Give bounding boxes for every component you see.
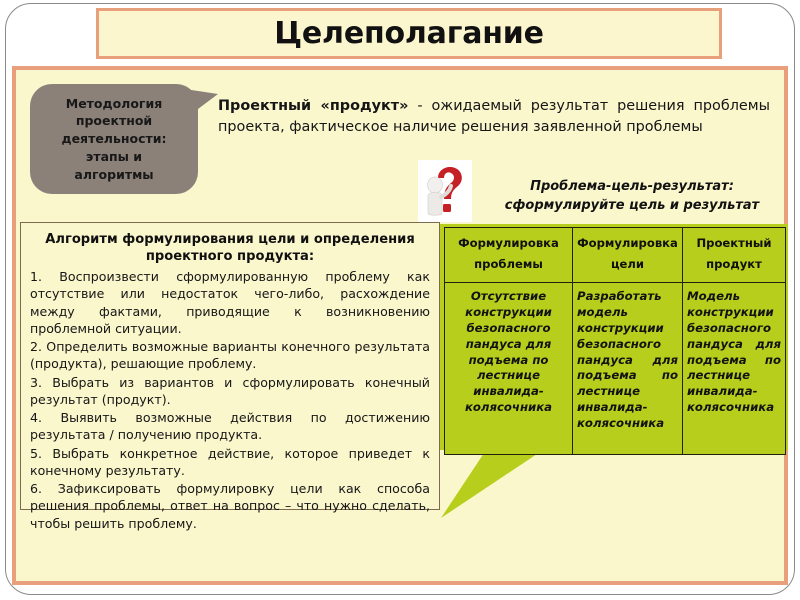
intro-lead: Проектный «продукт» (218, 98, 408, 114)
table-row: Отсутствие конструкции безопасного панду… (445, 282, 786, 454)
example-table: Формулировка проблемы Формулировка цели … (444, 227, 786, 455)
algorithm-box: Алгоритм формулирования цели и определен… (20, 222, 440, 510)
table-header-row: Формулировка проблемы Формулировка цели … (445, 228, 786, 283)
methodology-callout: Методология проектной деятельности: этап… (30, 84, 198, 194)
methodology-callout-label: Методология проектной деятельности: этап… (53, 95, 174, 184)
table-cell-product: Модель конструкции безопасного пандуса д… (683, 282, 786, 454)
algorithm-step: 1. Воспроизвести сформулированную пробле… (30, 268, 430, 337)
table-header-problem: Формулировка проблемы (445, 228, 573, 283)
algorithm-step: 6. Зафиксировать формулировку цели как с… (30, 480, 430, 532)
table-header-goal: Формулировка цели (573, 228, 683, 283)
problem-goal-result-caption: Проблема-цель-результат: сформулируйте ц… (476, 178, 788, 216)
caption-line-1: Проблема-цель-результат: (476, 178, 788, 197)
algorithm-step: 3. Выбрать из вариантов и сформулировать… (30, 374, 430, 409)
page-title: Целеполагание (274, 16, 543, 51)
table-cell-goal: Разработать модель конструкции безопасно… (573, 282, 683, 454)
intro-paragraph: Проектный «продукт» - ожидаемый результа… (218, 96, 770, 138)
algorithm-step: 4. Выявить возможные действия по достиже… (30, 409, 430, 444)
table-cell-problem: Отсутствие конструкции безопасного панду… (445, 282, 573, 454)
algorithm-step: 2. Определить возможные варианты конечно… (30, 338, 430, 373)
algorithm-step: 5. Выбрать конкретное действие, которое … (30, 445, 430, 480)
example-callout-tail (441, 448, 589, 518)
caption-line-2: сформулируйте цель и результат (476, 197, 788, 216)
algorithm-title: Алгоритм формулирования цели и определен… (30, 231, 430, 265)
slide: Целеполагание Методология проектной деят… (0, 0, 800, 600)
slide-title-box: Целеполагание (96, 8, 722, 59)
question-mark-icon (418, 160, 472, 222)
table-header-product: Проектный продукт (683, 228, 786, 283)
